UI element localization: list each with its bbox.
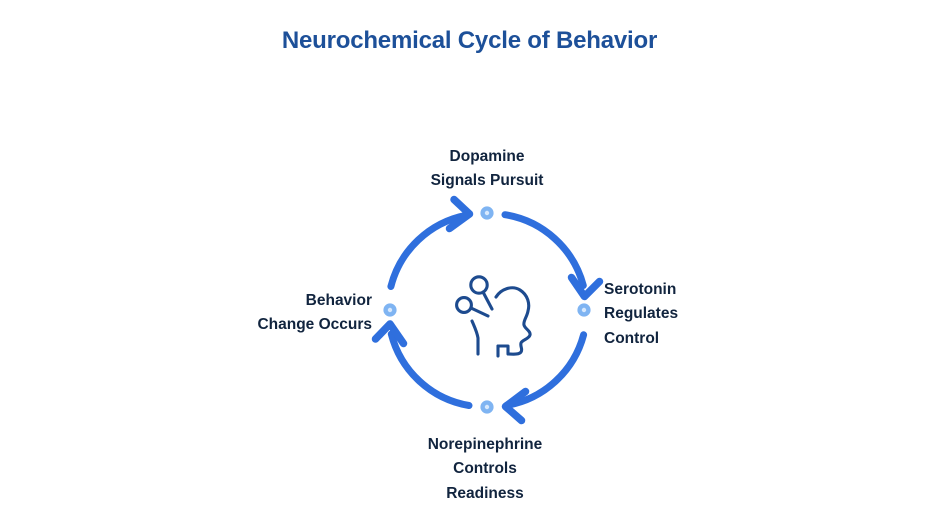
node-label-line: Readiness: [385, 482, 585, 506]
node-label-serotonin: Serotonin Regulates Control: [604, 278, 678, 351]
node-label-line: Controls: [385, 457, 585, 481]
node-label-line: Control: [604, 327, 678, 351]
arc-dopamine-to-serotonin: [505, 215, 600, 297]
node-label-behavior: Behavior Change Occurs: [150, 289, 372, 338]
node-label-line: Dopamine: [387, 145, 587, 169]
node-dot-right[interactable]: [577, 303, 590, 316]
node-label-dopamine: Dopamine Signals Pursuit: [387, 145, 587, 194]
slide-canvas: Neurochemical Cycle of Behavior: [0, 0, 939, 528]
node-label-line: Regulates: [604, 302, 678, 326]
head-profile-with-neurons-icon: [457, 277, 531, 356]
arc-serotonin-to-norepinephrine: [506, 335, 584, 421]
node-label-line: Behavior: [150, 289, 372, 313]
node-label-line: Serotonin: [604, 278, 678, 302]
node-dot-bottom[interactable]: [480, 400, 493, 413]
node-dot-left[interactable]: [383, 303, 396, 316]
arc-behavior-to-dopamine: [391, 200, 470, 287]
node-label-norepinephrine: Norepinephrine Controls Readiness: [385, 433, 585, 506]
cycle-diagram: Dopamine Signals Pursuit Serotonin Regul…: [0, 0, 939, 528]
node-label-line: Norepinephrine: [385, 433, 585, 457]
arc-norepinephrine-to-behavior: [376, 324, 470, 406]
node-dot-top[interactable]: [480, 206, 493, 219]
node-label-line: Change Occurs: [150, 313, 372, 337]
node-label-line: Signals Pursuit: [387, 169, 587, 193]
